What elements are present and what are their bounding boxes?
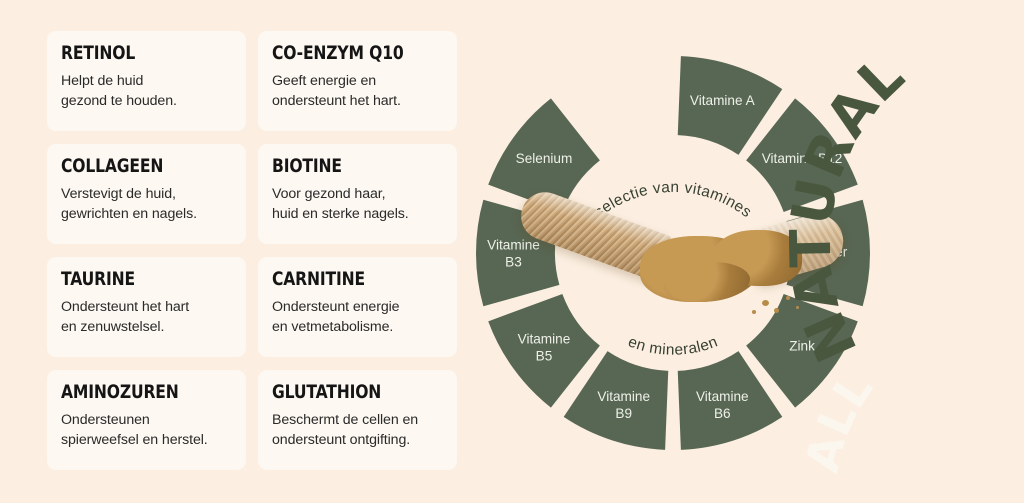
nutrient-card-aminozuren[interactable]: AMINOZUREN Ondersteunen spierweefsel en … [47,370,246,470]
card-description: Geeft energie en ondersteunt het hart. [272,72,443,111]
card-description: Voor gezond haar, huid en sterke nagels. [272,185,443,224]
wheel-segment-label-line: Vitamine [518,331,571,346]
wheel-segment-label-line: B9 [615,406,632,421]
card-title: BIOTINE [272,157,412,176]
wheel-segment-label-line: Vitamine [597,389,650,404]
card-title: TAURINE [61,270,201,289]
wheel-segment-label: Vitamine A [690,93,756,108]
wheel-segment-label-line: B5 [536,348,553,363]
card-title: RETINOL [61,44,201,63]
nutrient-card-collageen[interactable]: COLLAGEEN Verstevigt de huid, gewrichten… [47,144,246,244]
wheel-segment-label-line: Vitamine [696,389,749,404]
nutrient-card-biotine[interactable]: BIOTINE Voor gezond haar, huid en sterke… [258,144,457,244]
wheel-segment-vitamine-b3[interactable] [476,200,559,307]
nutrient-card-taurine[interactable]: TAURINE Ondersteunt het hart en zenuwste… [47,257,246,357]
card-title: GLUTATHION [272,383,412,402]
wheel-segment-label-line: Vitamine [487,237,540,252]
card-description: Ondersteunt het hart en zenuwstelsel. [61,298,232,337]
nutrient-card-glutathion[interactable]: GLUTATHION Beschermt de cellen en onders… [258,370,457,470]
arc-label-bottom-text: en mineralen [626,333,720,358]
nutrient-card-retinol[interactable]: RETINOL Helpt de huid gezond te houden. [47,31,246,131]
card-title: CARNITINE [272,270,412,289]
nutrient-card-grid: RETINOL Helpt de huid gezond te houden. … [47,31,457,472]
infographic-canvas: RETINOL Helpt de huid gezond te houden. … [0,0,1024,503]
arc-label-bottom: en mineralen [626,333,720,358]
card-title: AMINOZUREN [61,383,201,402]
card-title: CO-ENZYM Q10 [272,44,412,63]
card-description: Beschermt de cellen en ondersteunt ontgi… [272,411,443,450]
arc-label-top-text: selectie van vitamines [591,179,754,221]
card-description: Ondersteunt energie en vetmetabolisme. [272,298,443,337]
card-description: Helpt de huid gezond te houden. [61,72,232,111]
wheel-segment-label: Selenium [516,151,573,166]
card-description: Ondersteunen spierweefsel en herstel. [61,411,232,450]
nutrient-card-co-enzym-q10[interactable]: CO-ENZYM Q10 Geeft energie en ondersteun… [258,31,457,131]
all-natural-svg: NATURAL ALL [820,18,1024,488]
all-natural-lockup: NATURAL ALL [820,18,1024,488]
wheel-segment-label-line: B3 [505,254,522,269]
arc-label-top: selectie van vitamines [591,179,754,221]
wheel-segment-label-line: B6 [714,406,731,421]
card-title: COLLAGEEN [61,157,201,176]
card-description: Verstevigt de huid, gewrichten en nagels… [61,185,232,224]
nutrient-card-carnitine[interactable]: CARNITINE Ondersteunt energie en vetmeta… [258,257,457,357]
